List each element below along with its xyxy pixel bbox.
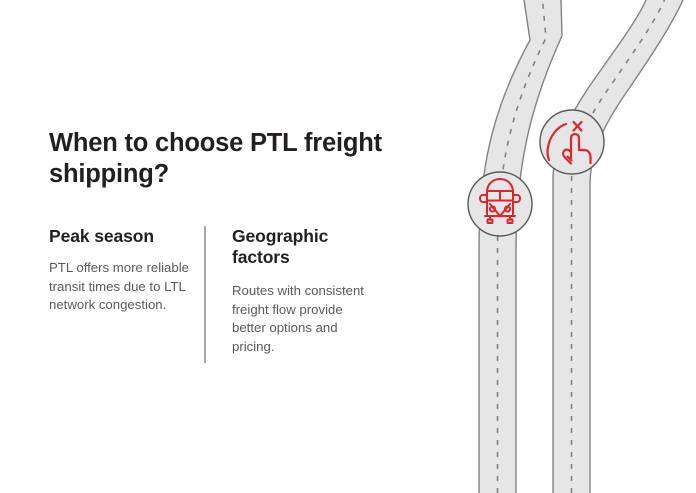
left-road-surface	[479, 0, 562, 493]
column-body-peak-season: PTL offers more reliable transit times d…	[49, 259, 190, 315]
column-peak-season: Peak season PTL offers more reliable tra…	[49, 226, 204, 363]
slide-canvas: When to choose PTL freight shipping? Pea…	[0, 0, 696, 493]
right-road-surface	[553, 0, 683, 493]
no-touch-badge	[540, 110, 604, 174]
column-geographic-factors: Geographic factors Routes with consisten…	[206, 226, 371, 363]
page-title: When to choose PTL freight shipping?	[49, 128, 399, 190]
column-heading-peak-season: Peak season	[49, 226, 190, 247]
left-road	[479, 0, 562, 493]
right-road	[553, 0, 683, 493]
truck-badge	[468, 172, 532, 236]
column-heading-geographic-factors: Geographic factors	[232, 226, 371, 268]
columns-container: Peak season PTL offers more reliable tra…	[49, 226, 399, 363]
column-body-geographic-factors: Routes with consistent freight flow prov…	[232, 282, 371, 357]
text-block: When to choose PTL freight shipping?	[49, 128, 399, 190]
truck-badge-circle	[468, 172, 532, 236]
road-illustration	[440, 0, 696, 493]
